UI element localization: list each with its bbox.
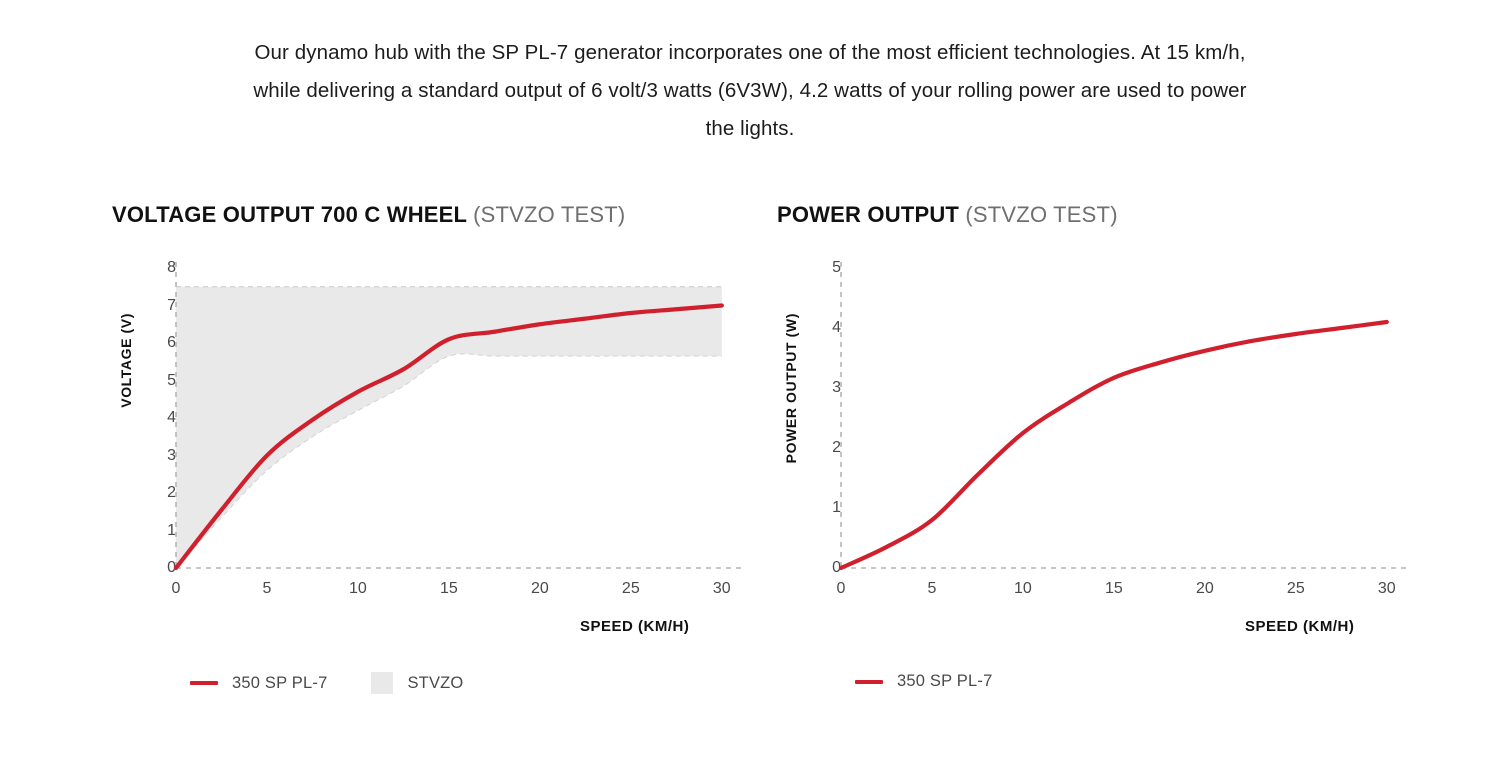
x-tick-label: 10 [349,580,367,598]
x-tick-label: 5 [263,580,272,598]
chart-title-power-sub: (STVZO TEST) [965,202,1117,227]
x-axis-title-voltage: SPEED (KM/H) [580,618,689,635]
x-tick-label: 15 [440,580,458,598]
x-tick-labels-voltage: 051015202530 [112,580,752,604]
stvzo-band [176,287,722,568]
chart-title-voltage-main: VOLTAGE OUTPUT 700 C WHEEL [112,202,467,227]
legend-line-swatch-icon [190,681,218,685]
x-tick-label: 25 [1287,580,1305,598]
chart-panel-power: POWER OUTPUT (STVZO TEST) POWER OUTPUT (… [777,202,1477,742]
chart-title-voltage: VOLTAGE OUTPUT 700 C WHEEL (STVZO TEST) [112,202,812,228]
chart-title-voltage-sub: (STVZO TEST) [473,202,625,227]
x-tick-label: 30 [713,580,731,598]
legend-label: STVZO [407,674,463,693]
legend-power: 350 SP PL-7 [855,672,992,691]
series-line-0 [841,322,1387,568]
legend-item[interactable]: 350 SP PL-7 [855,672,992,691]
chart-title-power: POWER OUTPUT (STVZO TEST) [777,202,1477,228]
x-tick-labels-power: 051015202530 [777,580,1417,604]
x-tick-label: 15 [1105,580,1123,598]
plot-svg-power [777,258,1417,578]
legend-line-swatch-icon [855,680,883,684]
x-tick-label: 0 [172,580,181,598]
plot-area-voltage: VOLTAGE (V) 012345678 051015202530 SPEED… [112,258,752,658]
x-axis-title-power: SPEED (KM/H) [1245,618,1354,635]
legend-label: 350 SP PL-7 [232,674,327,693]
x-tick-label: 30 [1378,580,1396,598]
x-tick-label: 10 [1014,580,1032,598]
legend-item[interactable]: STVZO [371,672,463,694]
legend-label: 350 SP PL-7 [897,672,992,691]
x-tick-label: 25 [622,580,640,598]
intro-paragraph: Our dynamo hub with the SP PL-7 generato… [250,34,1250,148]
plot-area-power: POWER OUTPUT (W) 012345 051015202530 SPE… [777,258,1417,658]
charts-container: VOLTAGE OUTPUT 700 C WHEEL (STVZO TEST) … [0,202,1500,762]
x-tick-label: 20 [531,580,549,598]
legend-item[interactable]: 350 SP PL-7 [190,674,327,693]
legend-box-swatch-icon [371,672,393,694]
legend-voltage: 350 SP PL-7STVZO [190,672,463,694]
x-tick-label: 20 [1196,580,1214,598]
chart-panel-voltage: VOLTAGE OUTPUT 700 C WHEEL (STVZO TEST) … [112,202,812,742]
x-tick-label: 0 [837,580,846,598]
plot-svg-voltage [112,258,752,578]
x-tick-label: 5 [928,580,937,598]
chart-title-power-main: POWER OUTPUT [777,202,959,227]
